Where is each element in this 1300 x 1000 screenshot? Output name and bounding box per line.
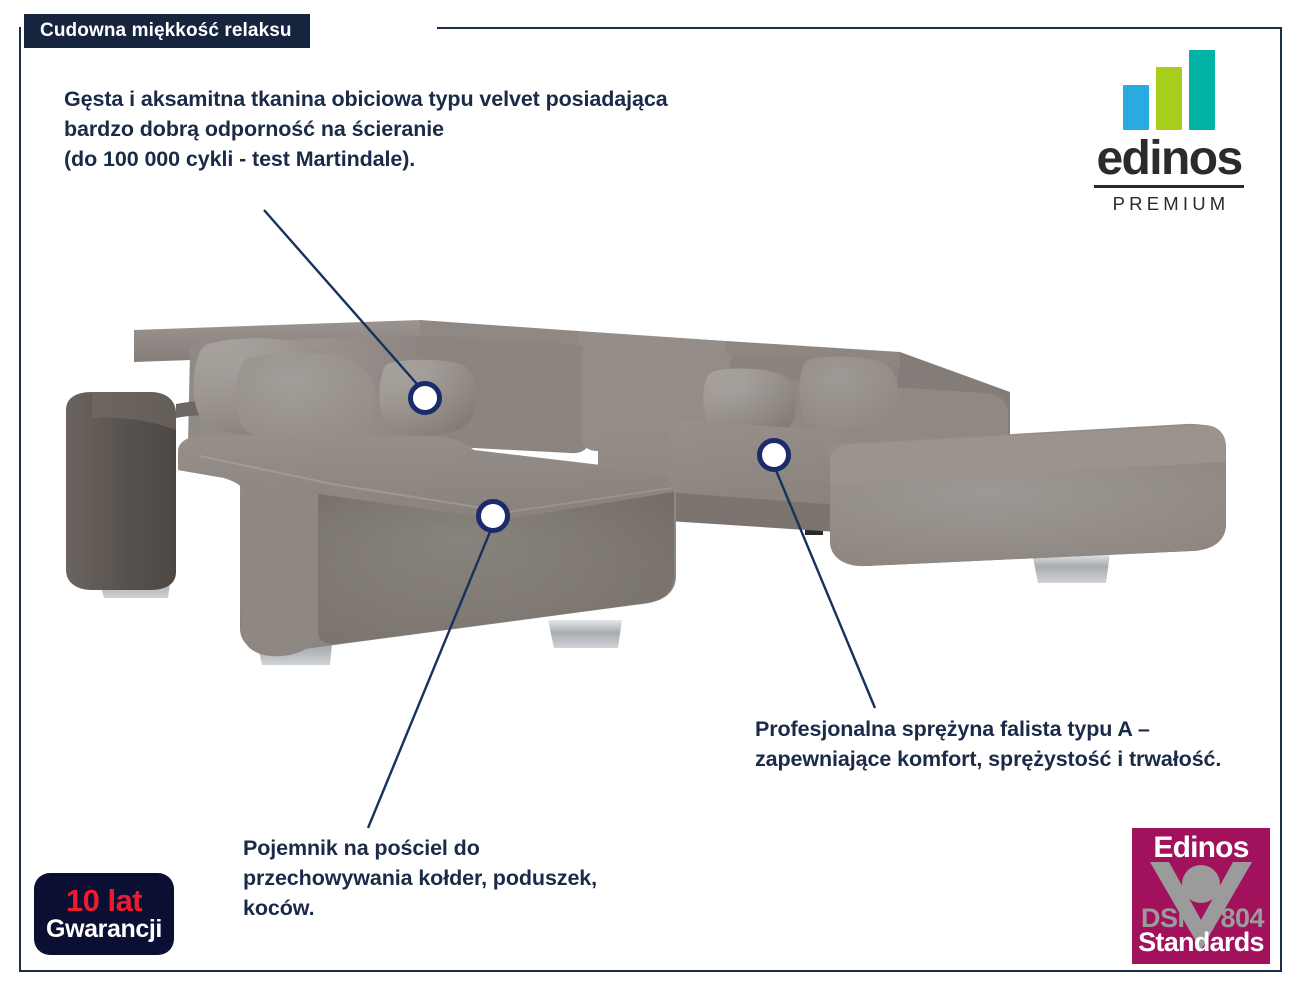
logo-bar-blue [1123, 85, 1149, 130]
logo-wordmark: edinos [1088, 134, 1250, 184]
callout-text-spring: Profesjonalna sprężyna falista typu A – … [755, 714, 1225, 774]
logo-subtitle: PREMIUM [1088, 193, 1250, 215]
edinos-premium-logo: edinos PREMIUM [1088, 50, 1250, 215]
warranty-badge: 10 lat Gwarancji [34, 873, 174, 955]
dsi-bottom-label: Standards [1132, 927, 1270, 958]
logo-divider [1094, 185, 1244, 188]
logo-bar-lime [1156, 67, 1182, 130]
header-banner: Cudowna miękkość relaksu [24, 14, 310, 48]
logo-bar-teal [1189, 50, 1215, 130]
leader-line-spring [775, 468, 875, 708]
infographic-canvas: Cudowna miękkość relaksu Gęsta i aksamit… [0, 0, 1300, 1000]
callout-text-fabric: Gęsta i aksamitna tkanina obiciowa typu … [64, 84, 704, 174]
dsi-standards-badge: Edinos DSI 804 Standards [1132, 828, 1270, 964]
callout-marker-fabric[interactable] [408, 381, 442, 415]
callout-marker-storage[interactable] [476, 499, 510, 533]
leader-line-fabric [264, 210, 424, 392]
dsi-brand-title: Edinos [1132, 831, 1270, 865]
callout-text-storage: Pojemnik na pościel do przechowywania ko… [243, 833, 643, 923]
warranty-label: Gwarancji [46, 916, 162, 943]
leader-line-storage [368, 527, 492, 828]
warranty-years: 10 lat [66, 886, 142, 916]
header-banner-title: Cudowna miękkość relaksu [40, 20, 292, 42]
logo-bar-chart-icon [1088, 50, 1250, 130]
callout-marker-spring[interactable] [757, 438, 791, 472]
